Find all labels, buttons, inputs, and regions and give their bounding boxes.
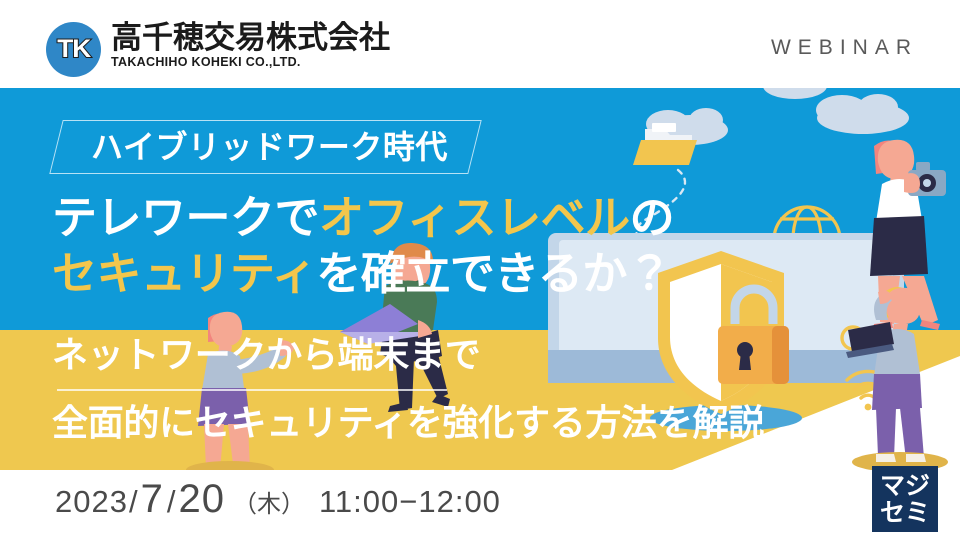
- banner-header: TK 高千穂交易株式会社 TAKACHIHO KOHEKI CO.,LTD. W…: [0, 0, 960, 88]
- schedule-time: 11:00−12:00: [305, 484, 501, 520]
- majisemi-logo-line-2: セミ: [880, 499, 930, 526]
- company-logo-text: 高千穂交易株式会社 TAKACHIHO KOHEKI CO.,LTD.: [111, 21, 390, 69]
- majisemi-logo-line-1: マジ: [880, 472, 930, 499]
- tk-logo-mark-icon: TK: [46, 22, 101, 77]
- subtitle-line-1: ネットワークから端末まで: [52, 336, 480, 376]
- schedule-day: 20: [176, 477, 227, 522]
- schedule-separator-1: /: [128, 484, 139, 520]
- webinar-label: WEBINAR: [771, 36, 918, 60]
- headline-line-1: テレワークでオフィスレベルの: [52, 194, 674, 242]
- headline-2-accent: セキュリティ: [52, 247, 316, 300]
- headline-line-2: セキュリティを確立できるか？: [52, 250, 671, 298]
- tagline-text: ハイブリッドワーク時代: [91, 130, 448, 164]
- schedule-datetime: 2023 / 7 / 20 （木） 11:00−12:00: [55, 477, 501, 522]
- schedule-day-of-week: （木）: [227, 484, 305, 519]
- headline-1-part-c: の: [630, 191, 675, 244]
- company-name-en: TAKACHIHO KOHEKI CO.,LTD.: [111, 55, 390, 69]
- schedule-month: 7: [139, 477, 166, 522]
- headline-2-part-b: を確立できるか？: [316, 247, 671, 300]
- company-logo: TK 高千穂交易株式会社 TAKACHIHO KOHEKI CO.,LTD.: [46, 21, 390, 77]
- tagline-badge: ハイブリッドワーク時代: [49, 120, 481, 174]
- subtitle-divider: [57, 389, 447, 391]
- headline-1-accent: オフィスレベル: [319, 191, 630, 244]
- schedule-separator-2: /: [166, 484, 177, 520]
- schedule-year: 2023: [55, 484, 128, 520]
- tk-logo-letters: TK: [57, 37, 90, 62]
- subtitle-line-2: 全面的にセキュリティを強化する方法を解説: [52, 404, 764, 444]
- company-name-jp: 高千穂交易株式会社: [111, 21, 390, 55]
- webinar-banner: TK 高千穂交易株式会社 TAKACHIHO KOHEKI CO.,LTD. W…: [0, 0, 960, 540]
- headline-1-part-a: テレワークで: [52, 191, 319, 244]
- majisemi-logo[interactable]: マジ セミ: [872, 466, 938, 532]
